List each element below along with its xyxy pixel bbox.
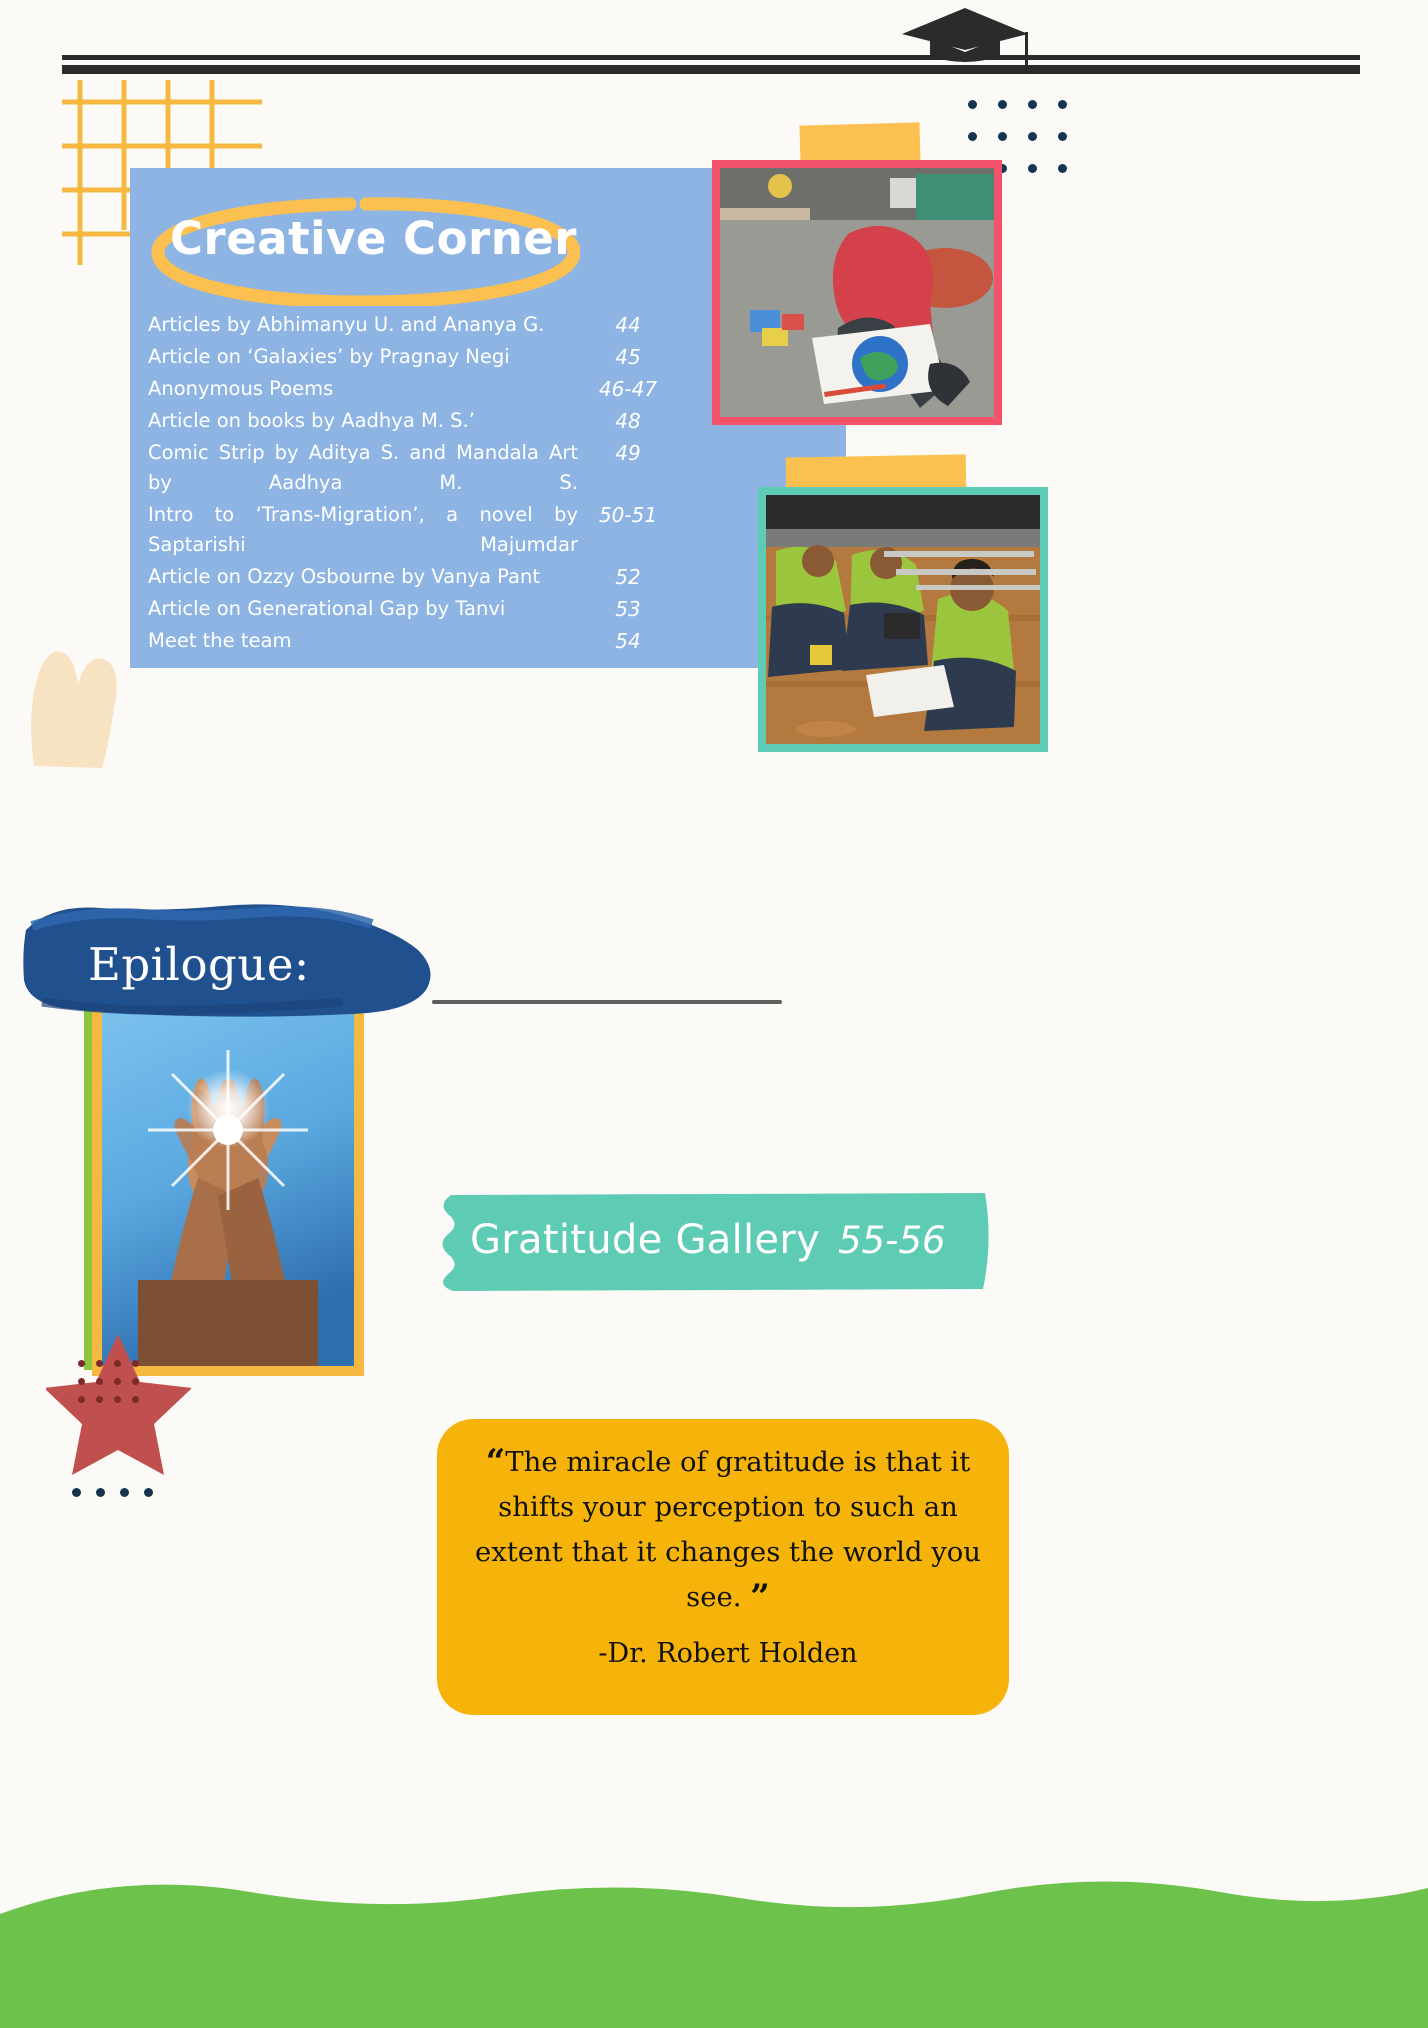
- contents-page: 50-51: [578, 500, 678, 530]
- gratitude-gallery-pages: 55-56: [838, 1219, 946, 1262]
- contents-page: 46-47: [578, 374, 678, 404]
- list-item[interactable]: Comic Strip by Aditya S. and Mandala Art…: [148, 438, 683, 498]
- epilogue-title: Epilogue:: [88, 938, 310, 991]
- contents-label: Intro to ‘Trans-Migration’, a novel by S…: [148, 500, 578, 560]
- quote-author: -Dr. Robert Holden: [468, 1638, 988, 1669]
- creative-corner-title: Creative Corner: [170, 212, 577, 265]
- quote-close-mark: ”: [750, 1577, 770, 1617]
- quote-text-block: “The miracle of gratitude is that it shi…: [468, 1440, 988, 1620]
- contents-page: 44: [578, 310, 678, 340]
- contents-label: Article on ‘Galaxies’ by Pragnay Negi: [148, 342, 578, 372]
- list-item[interactable]: Article on books by Aadhya M. S.’ 48: [148, 406, 683, 436]
- quote-open-mark: “: [486, 1442, 506, 1482]
- contents-label: Anonymous Poems: [148, 374, 578, 404]
- list-item[interactable]: Meet the team 54: [148, 626, 683, 656]
- contents-label: Articles by Abhimanyu U. and Ananya G.: [148, 310, 578, 340]
- contents-page: 48: [578, 406, 678, 436]
- contents-page: 53: [578, 594, 678, 624]
- gratitude-gallery-heading: Gratitude Gallery 55-56: [470, 1217, 946, 1263]
- list-item[interactable]: Articles by Abhimanyu U. and Ananya G. 4…: [148, 310, 683, 340]
- contents-page: 54: [578, 626, 678, 656]
- gratitude-gallery-title: Gratitude Gallery: [470, 1217, 820, 1263]
- contents-label: Meet the team: [148, 626, 578, 656]
- epilogue-divider-line: [432, 1000, 782, 1004]
- creative-corner-contents-list: Articles by Abhimanyu U. and Ananya G. 4…: [148, 310, 683, 658]
- contents-label: Article on Generational Gap by Tanvi: [148, 594, 578, 624]
- photo-students-group-activity: [758, 487, 1048, 752]
- header-rule-top: [62, 55, 1360, 60]
- contents-label: Article on books by Aadhya M. S.’: [148, 406, 578, 436]
- bottom-green-wave: [0, 1848, 1428, 2028]
- list-item[interactable]: Article on Ozzy Osbourne by Vanya Pant 5…: [148, 562, 683, 592]
- beige-blob-decoration: [26, 648, 136, 768]
- list-item[interactable]: Anonymous Poems 46-47: [148, 374, 683, 404]
- graduation-cap-icon: [900, 4, 1030, 76]
- list-item[interactable]: Article on ‘Galaxies’ by Pragnay Negi 45: [148, 342, 683, 372]
- list-item[interactable]: Article on Generational Gap by Tanvi 53: [148, 594, 683, 624]
- photo-student-painting-globe: [712, 160, 1002, 425]
- header-rule-bottom: [62, 65, 1360, 74]
- contents-page: 52: [578, 562, 678, 592]
- photo-open-hands-sunlight: [92, 980, 364, 1376]
- list-item[interactable]: Intro to ‘Trans-Migration’, a novel by S…: [148, 500, 683, 560]
- quote-text: The miracle of gratitude is that it shif…: [475, 1446, 981, 1613]
- contents-label: Comic Strip by Aditya S. and Mandala Art…: [148, 438, 578, 498]
- contents-page: 45: [578, 342, 678, 372]
- contents-page: 49: [578, 438, 678, 468]
- contents-label: Article on Ozzy Osbourne by Vanya Pant: [148, 562, 578, 592]
